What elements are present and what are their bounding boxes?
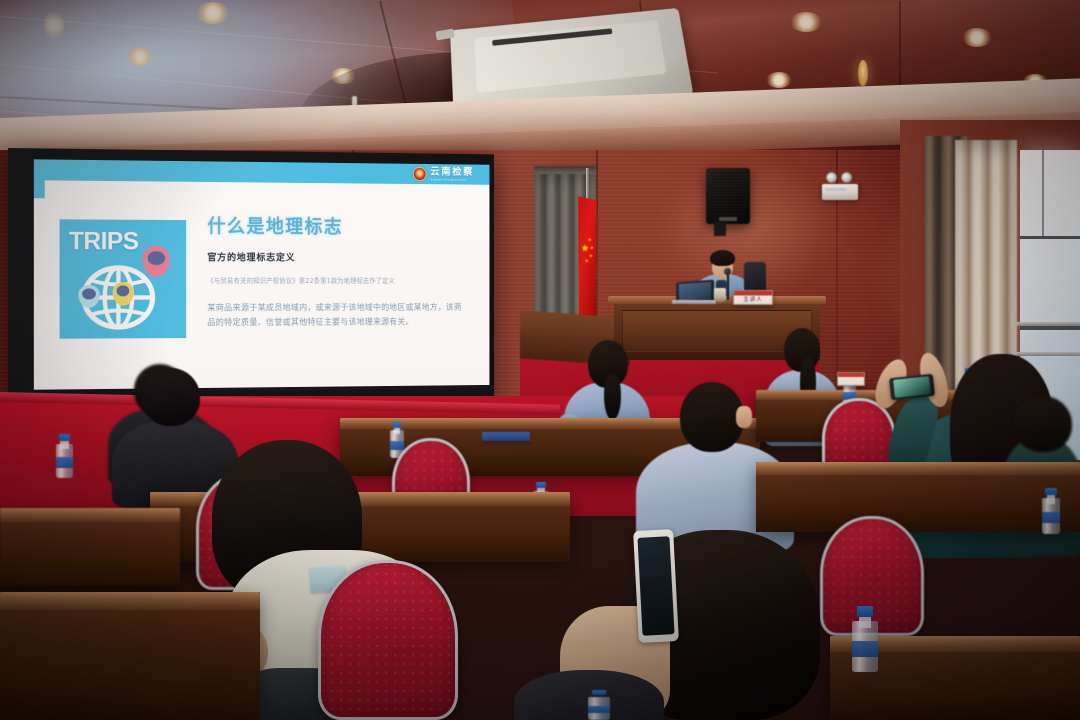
water-bottle[interactable] (588, 690, 610, 720)
bottle-label (56, 457, 73, 467)
bottle-cap (536, 482, 546, 488)
slide-citation: 《与贸易有关的知识产权协议》第22条第1款为地理标志作了定义 (207, 275, 467, 285)
window-guard-rail (1012, 322, 1080, 326)
bottle-label (1042, 512, 1060, 523)
national-emblem-icon (413, 167, 427, 182)
recessed-downlight (790, 12, 822, 32)
recessed-downlight (962, 28, 992, 47)
attendee-head (680, 382, 744, 452)
phone-screen (893, 376, 932, 397)
logo-text-cn: 云南检察 (430, 167, 474, 177)
logo-text: 云南检察 Yunnan Procuratorate (430, 167, 474, 182)
blue-notebook[interactable] (482, 432, 530, 441)
bottle-cap (592, 690, 606, 695)
wall-loudspeaker (706, 168, 750, 224)
bottle-body (588, 697, 610, 720)
slide-subtitle: 官方的地理标志定义 (207, 250, 295, 264)
slide-title: 什么是地理标志 (207, 211, 343, 238)
ac-inner-panel (474, 20, 666, 93)
emergency-light-label (825, 188, 847, 191)
smartphone-foreground[interactable] (633, 529, 679, 643)
flag-star-small: ★ (589, 254, 593, 258)
window-mullion (1042, 150, 1044, 236)
recessed-downlight (766, 72, 792, 88)
desk-edge (0, 508, 180, 522)
bottle-cap (59, 434, 70, 441)
speaker-badge (719, 217, 737, 221)
map-pin-dot (116, 286, 129, 297)
phone-screen (637, 536, 675, 636)
bottle-cap (857, 606, 874, 617)
map-pin-dot (82, 289, 96, 300)
flag-star-small: ★ (588, 238, 592, 242)
bottle-label (588, 706, 610, 713)
desk-face (0, 610, 260, 720)
desk-edge (0, 592, 260, 610)
map-pin-pink (143, 246, 171, 277)
desk-nameplate (837, 372, 865, 386)
presentation-slide: 云南检察 Yunnan Procuratorate TRIPS (34, 159, 490, 389)
desk-row-2-left (0, 508, 180, 586)
desk-face (0, 522, 180, 586)
water-bottle[interactable] (1042, 488, 1060, 534)
map-pin-cyan (78, 285, 100, 308)
conference-room-photo: ★ ★ ★ ★ ★ 云南检察 Yunnan (0, 0, 1080, 720)
ceiling-sprinkler (44, 10, 64, 40)
emergency-light (822, 184, 858, 200)
speaker-grill (710, 171, 747, 214)
water-bottle[interactable] (56, 434, 73, 478)
attendee-ponytail (604, 374, 621, 420)
nameplate-text: 主讲人 (734, 295, 772, 303)
smartphone-raised[interactable] (889, 374, 935, 400)
desk-row-1-left (0, 592, 260, 720)
pendant-lamp (858, 60, 868, 86)
attendee-head (1014, 396, 1072, 452)
bottle-label (852, 641, 878, 656)
flag-star-small: ★ (585, 259, 589, 263)
water-cup[interactable] (714, 288, 726, 302)
organization-logo: 云南检察 Yunnan Procuratorate (413, 167, 474, 182)
laptop-base (672, 300, 716, 304)
microphone-stand (727, 272, 729, 300)
presenter-hair (710, 250, 735, 266)
logo-text-en: Yunnan Procuratorate (430, 178, 474, 182)
microphone[interactable] (724, 268, 731, 275)
attendee-head (142, 368, 200, 426)
recessed-downlight (126, 48, 154, 66)
window-mullion (1020, 236, 1080, 239)
water-bottle[interactable] (852, 606, 878, 672)
recessed-downlight (196, 2, 230, 24)
emergency-light-lamp (826, 172, 837, 183)
slide-body-text: 某商品来源于某成员地域内，或来源于该地域中的地区或某地方，该商品的特定质量、信誉… (207, 301, 463, 330)
attendee-ear (736, 406, 752, 428)
bottle-cap (1045, 488, 1057, 495)
emergency-light-lamp (841, 172, 852, 183)
bottle-cap (393, 422, 402, 428)
chair-back (318, 560, 458, 720)
map-pin-yellow (112, 282, 133, 306)
trips-graphic: TRIPS (60, 219, 186, 339)
map-pin-dot (148, 251, 165, 265)
laptop-screen (679, 282, 712, 301)
projection-screen: 云南检察 Yunnan Procuratorate TRIPS (8, 148, 494, 416)
flag-star-large: ★ (581, 244, 589, 253)
speaker-bracket (714, 222, 726, 236)
flag-star-small: ★ (590, 246, 594, 250)
chair[interactable] (318, 560, 458, 720)
desk-edge (756, 462, 1080, 475)
nameplate: 主讲人 (733, 290, 773, 305)
